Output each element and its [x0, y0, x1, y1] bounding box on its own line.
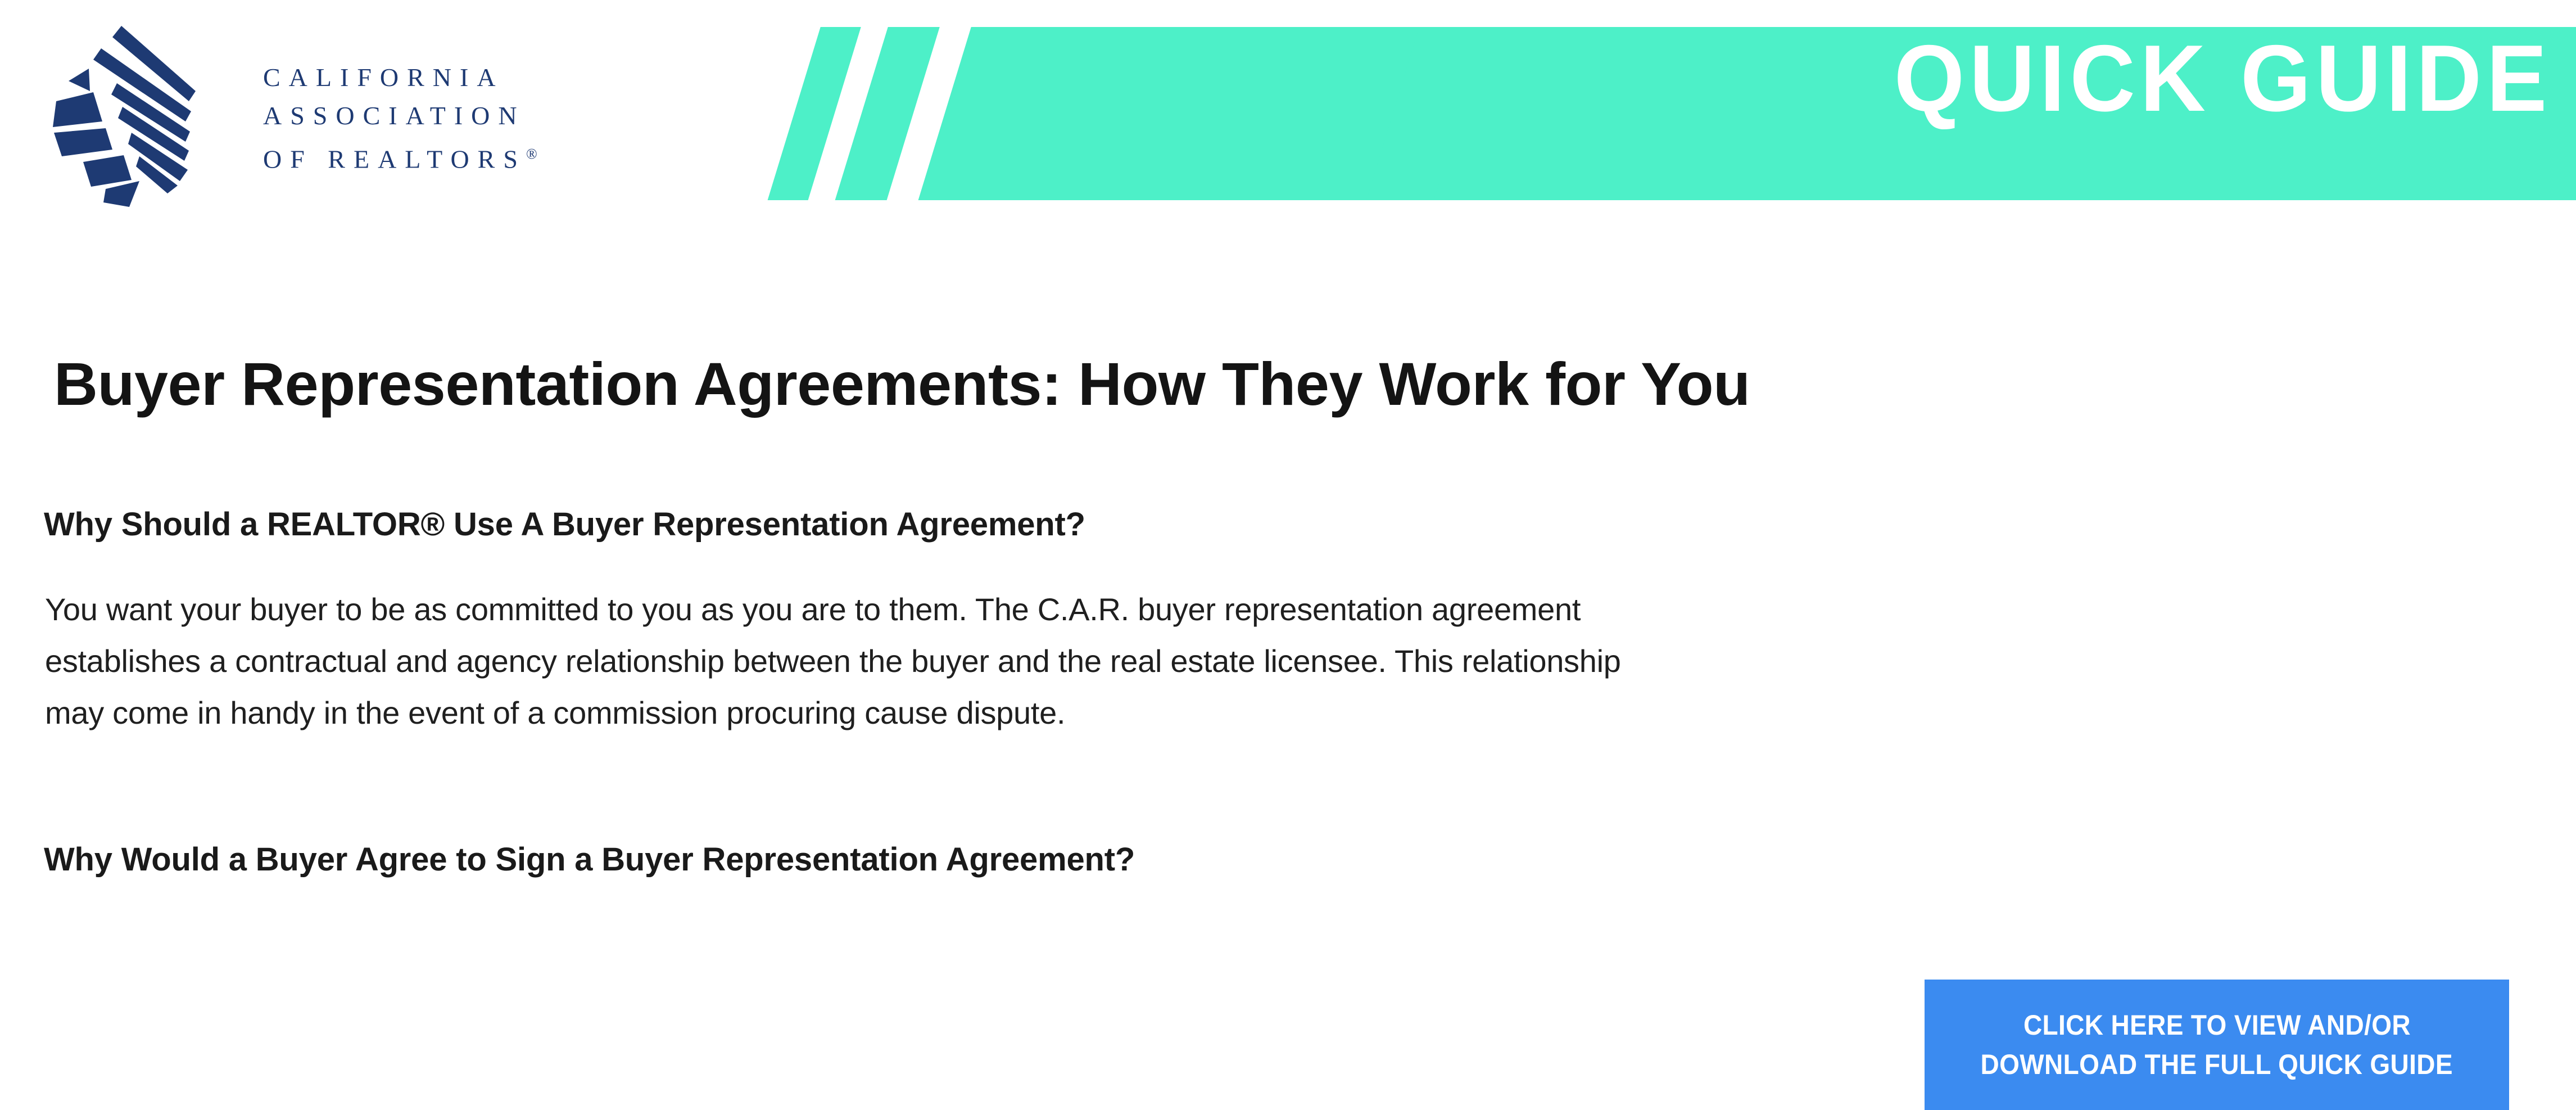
paragraph-line: establishes a contractual and agency rel… [45, 635, 2496, 687]
car-logo-wordmark: CALIFORNIA ASSOCIATION OF REALTORS® [263, 58, 735, 178]
car-diamond-logo-icon [27, 17, 201, 208]
logo-line-association: ASSOCIATION [263, 97, 735, 135]
section-heading-why-should-realtor-use: Why Should a REALTOR® Use A Buyer Repres… [44, 506, 1085, 543]
banner-stripe-1 [759, 27, 868, 200]
section-heading-why-would-buyer-agree: Why Would a Buyer Agree to Sign a Buyer … [44, 841, 1135, 878]
cta-line-1: CLICK HERE TO VIEW AND/OR [2023, 1005, 2410, 1045]
banner-notch [1366, 27, 1487, 200]
section-paragraph-why-should-realtor-use: You want your buyer to be as committed t… [45, 584, 2496, 739]
quick-guide-page: { "colors": { "teal_banner": "#4df0c8", … [0, 0, 2576, 937]
banner-stripe-2 [826, 27, 947, 200]
page-header: QUICK GUIDE [0, 0, 2576, 225]
registered-trademark-icon: ® [526, 146, 537, 162]
page-title: Buyer Representation Agreements: How The… [54, 351, 1750, 417]
logo-line-california: CALIFORNIA [263, 58, 735, 97]
page-content: Buyer Representation Agreements: How The… [0, 225, 2576, 937]
logo-line-of-realtors: OF REALTORS® [263, 135, 735, 178]
paragraph-line: You want your buyer to be as committed t… [45, 584, 2496, 635]
download-full-quick-guide-button[interactable]: CLICK HERE TO VIEW AND/OR DOWNLOAD THE F… [1925, 980, 2509, 1110]
paragraph-line: may come in handy in the event of a comm… [45, 687, 2496, 739]
car-logo: CALIFORNIA ASSOCIATION OF REALTORS® [27, 12, 758, 204]
quick-guide-banner-label: QUICK GUIDE [1505, 25, 2552, 132]
banner-stripe-3 [909, 27, 1574, 200]
cta-line-2: DOWNLOAD THE FULL QUICK GUIDE [1981, 1045, 2453, 1084]
logo-of-realtors-text: OF REALTORS [263, 145, 526, 173]
